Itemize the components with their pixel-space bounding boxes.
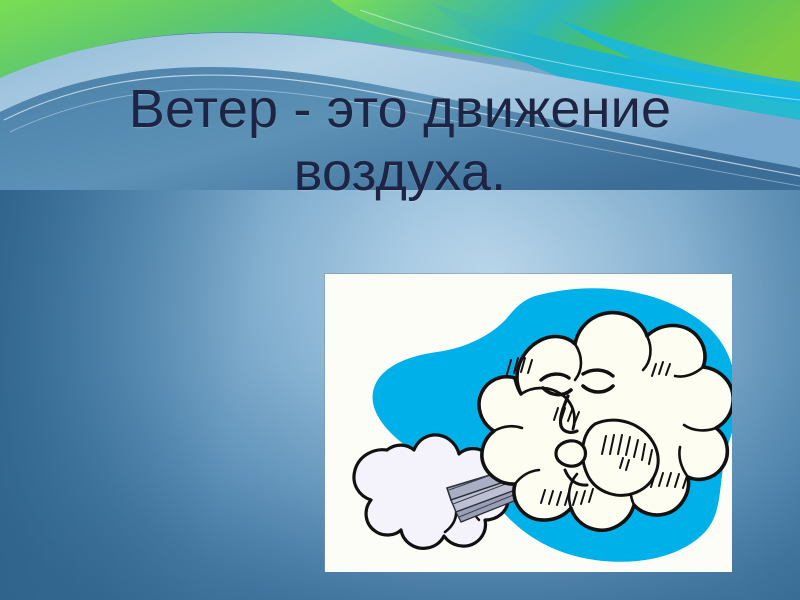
slide-title: Ветер - это движение воздуха. — [60, 78, 740, 204]
slide-image-cloud-blowing[interactable] — [325, 274, 732, 572]
mouth-pucker — [556, 441, 586, 466]
cloud-illustration — [325, 274, 732, 572]
presentation-slide: Ветер - это движение воздуха. — [0, 0, 800, 600]
